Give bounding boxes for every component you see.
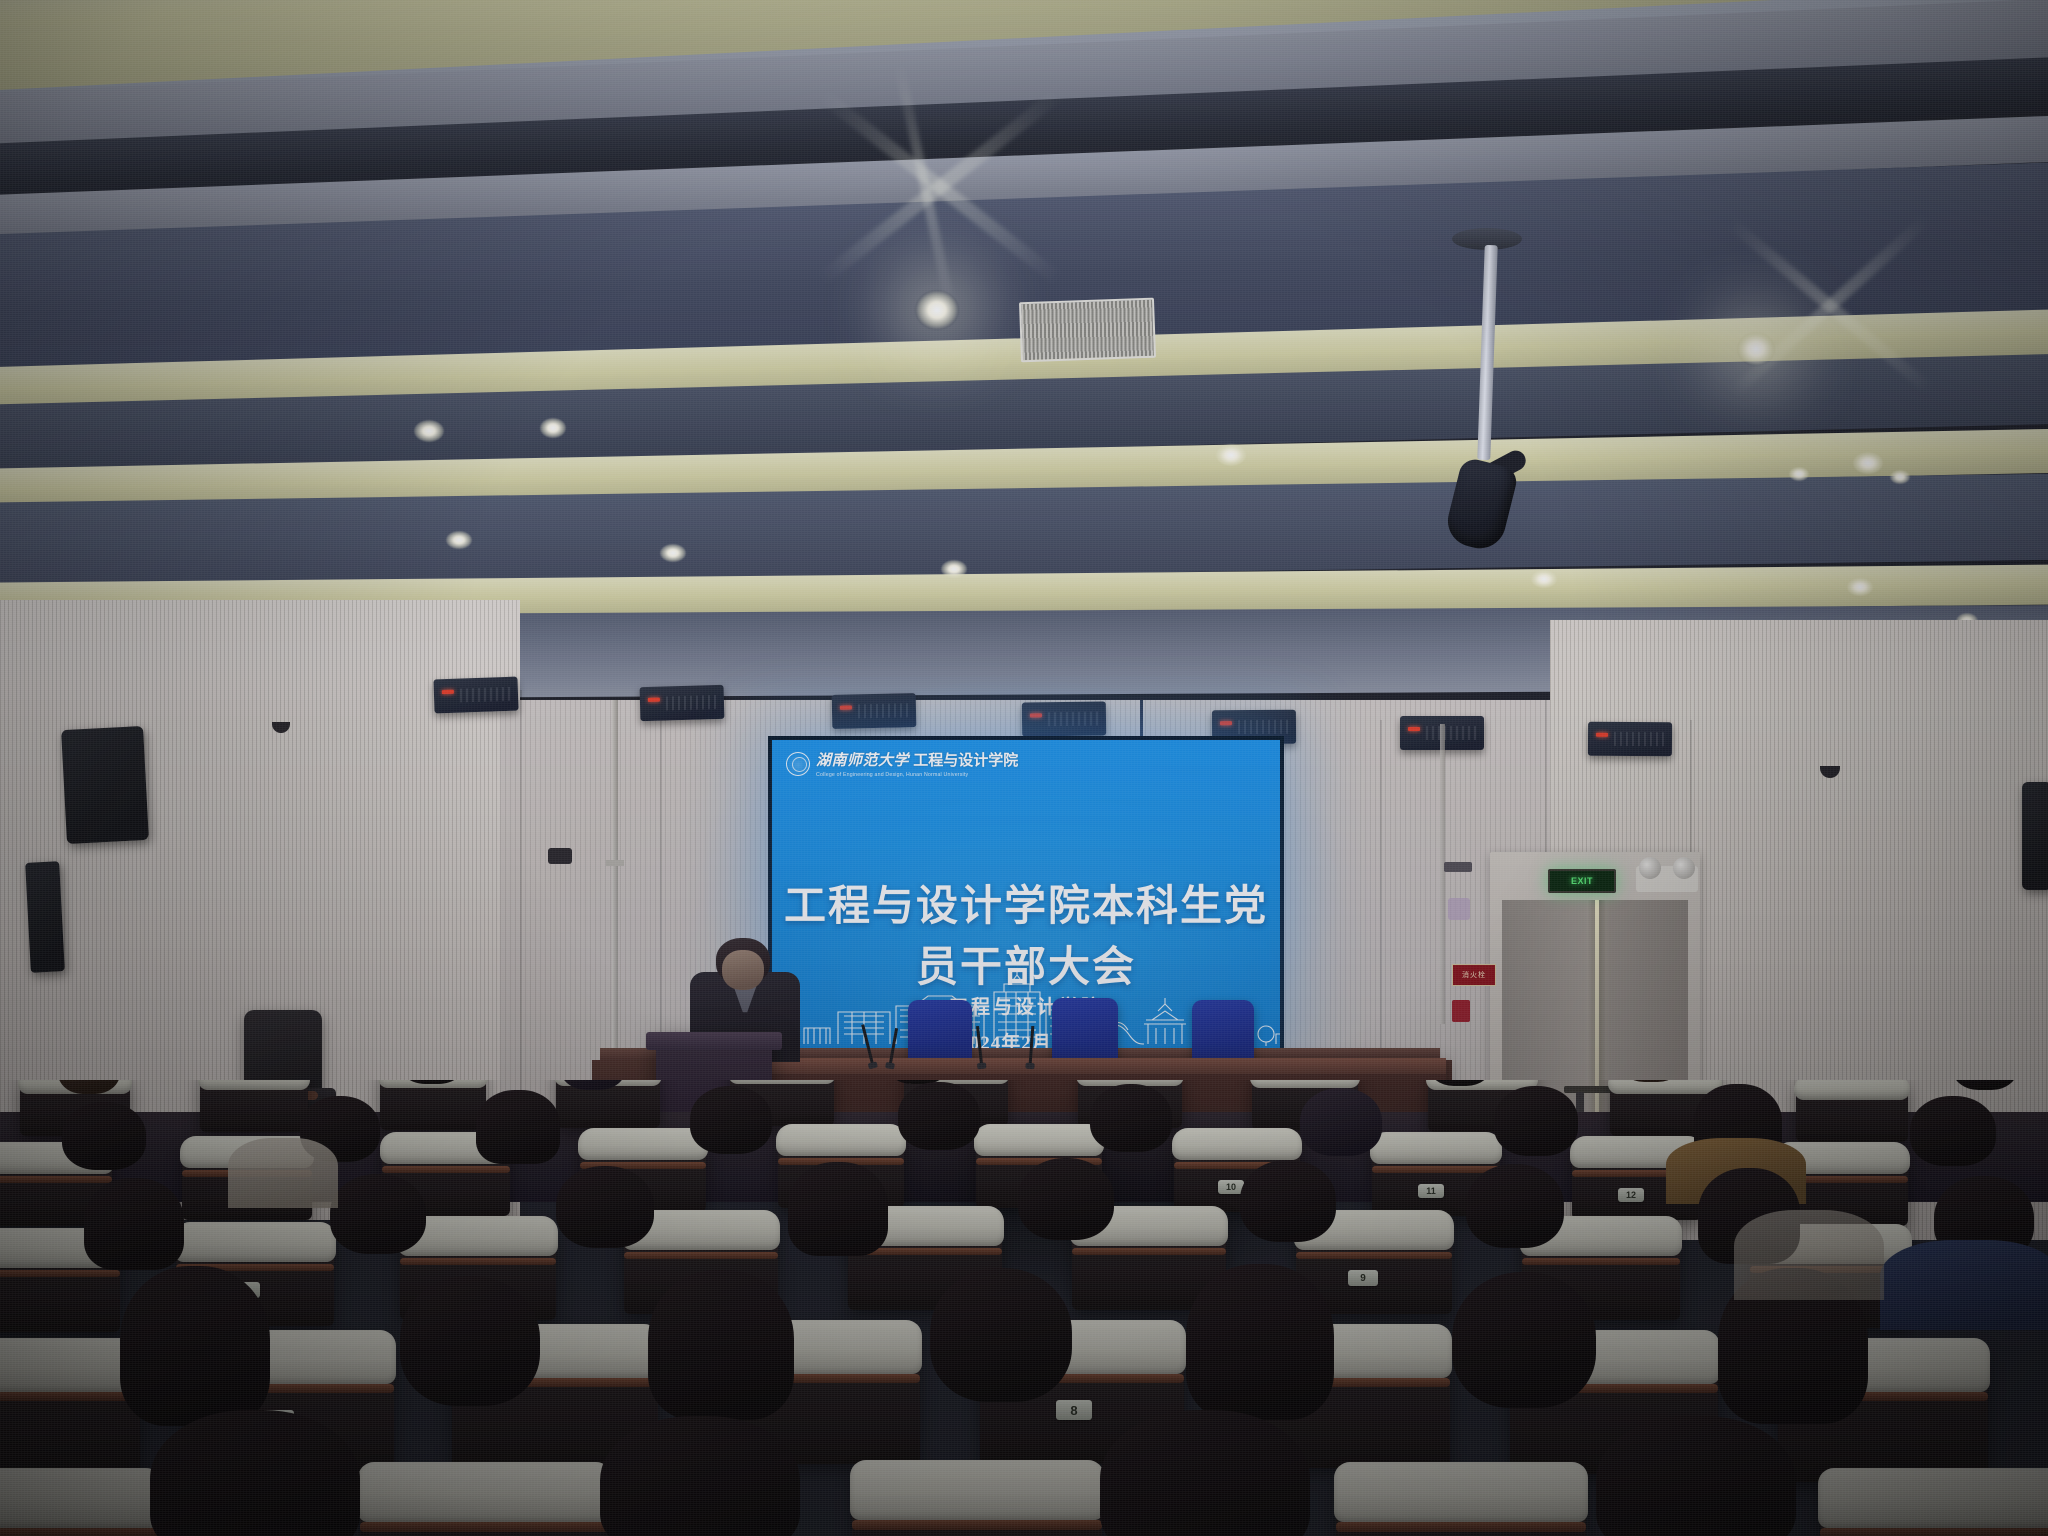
seat-number-plate: 9 (1348, 1270, 1378, 1286)
seat-number-plate: 11 (1418, 1184, 1444, 1198)
seat-headrest (974, 1124, 1104, 1156)
room-camera (548, 848, 572, 864)
ceiling-downlight (1216, 444, 1246, 466)
seat-wood-trim (624, 1252, 778, 1259)
audience-head-foreground (930, 1268, 1072, 1402)
speaker-grill (1426, 726, 1478, 740)
wall-speaker (61, 726, 149, 844)
seat-wood-trim (0, 1392, 140, 1401)
seat-wood-trim (0, 1270, 120, 1277)
speaker-grill (1048, 711, 1100, 726)
ceiling-downlight (414, 420, 444, 442)
ceiling-downlight (1853, 452, 1883, 474)
audience-head-foreground (600, 1416, 800, 1536)
seat-headrest (1794, 1080, 1910, 1100)
seat[interactable]: 8 (360, 1466, 610, 1536)
seat-headrest (358, 1462, 612, 1522)
seat-headrest (0, 1468, 162, 1528)
screen-logo-text: 湖南师范大学 工程与设计学院 (816, 749, 1018, 770)
speaker-led (648, 698, 660, 702)
audience-head-foreground (648, 1270, 794, 1420)
audience-head (1466, 1164, 1564, 1248)
seat-number-plate: 12 (1618, 1188, 1644, 1202)
seat-wood-trim (1296, 1252, 1452, 1259)
seat[interactable] (0, 1472, 160, 1536)
seat-headrest (578, 1128, 708, 1160)
ceiling-downlight (660, 544, 686, 562)
seat-headrest (1172, 1128, 1302, 1160)
ceiling-downlight (1847, 578, 1873, 596)
auditorium-photo: 湖南师范大学 工程与设计学院 College of Engineering an… (0, 0, 2048, 1536)
university-emblem-icon (786, 752, 810, 776)
seat-wood-trim (360, 1522, 610, 1532)
ceiling-downlight (446, 531, 472, 549)
ceiling-downlight (540, 418, 566, 438)
seat[interactable] (1336, 1466, 1586, 1536)
exit-sign-label: EXIT (1571, 876, 1593, 886)
audience-head-foreground (1452, 1272, 1596, 1408)
audience-head (788, 1162, 888, 1256)
audience-head (898, 1082, 980, 1150)
wall-speaker-column (25, 861, 65, 973)
audience-head-foreground (120, 1266, 270, 1426)
speaker-grill (666, 695, 718, 710)
audience-head-foreground (400, 1276, 540, 1406)
audience-head (330, 1174, 426, 1254)
screen-header-logo: 湖南师范大学 工程与设计学院 College of Engineering an… (786, 749, 1018, 778)
ceiling-downlight (1890, 470, 1910, 484)
ceiling-downlight (1789, 467, 1809, 481)
ceiling-downlight (915, 290, 959, 330)
audience-head (1300, 1088, 1382, 1156)
ceiling-air-vent (1019, 298, 1156, 363)
seat[interactable] (380, 1080, 486, 1130)
audience-head (1494, 1086, 1578, 1156)
seat-wood-trim (1072, 1248, 1226, 1255)
ceiling-speaker (1588, 722, 1672, 757)
audience-head (476, 1090, 560, 1164)
fire-hydrant-sign: 消火栓 (1452, 964, 1496, 986)
speaker-grill (460, 687, 512, 703)
speaker-led (1596, 733, 1608, 737)
audience-head (1952, 1080, 2018, 1090)
seat-headrest (728, 1080, 836, 1084)
fire-sign-label: 消火栓 (1462, 970, 1486, 980)
emergency-light (1636, 866, 1698, 892)
seat-headrest (1334, 1462, 1588, 1522)
screen-logo-college: 工程与设计学院 (913, 752, 1018, 769)
audience-head (556, 1166, 654, 1248)
seat-headrest (198, 1080, 310, 1090)
seat[interactable] (0, 1342, 140, 1482)
screen-support-pole (612, 700, 618, 1100)
audience-head (690, 1086, 772, 1154)
audience-head (1018, 1158, 1114, 1240)
ceiling-downlight (1531, 570, 1557, 588)
wall-speaker (2022, 782, 2048, 890)
wall-notice (1444, 862, 1472, 872)
audience-head-foreground (1186, 1264, 1334, 1420)
speaker-led (1220, 721, 1232, 725)
seat-wood-trim (1522, 1258, 1680, 1265)
audience-shoulders (1880, 1240, 2048, 1330)
seat[interactable] (200, 1080, 308, 1132)
ceiling-downlight (941, 560, 967, 578)
speaker-led (840, 705, 852, 709)
speaker-led (1408, 727, 1420, 731)
ceiling-speaker (1022, 701, 1106, 736)
speaker-grill (1238, 720, 1290, 734)
fire-alarm-button[interactable] (1452, 1000, 1470, 1022)
exit-sign: EXIT (1548, 869, 1616, 893)
seat[interactable] (1796, 1080, 1908, 1142)
screen-support-pole (1440, 724, 1445, 1024)
ceiling-speaker (640, 685, 725, 721)
seat[interactable]: 8 (852, 1464, 1102, 1536)
speaker-person-face (722, 950, 764, 990)
ceiling-speaker (832, 693, 917, 729)
seat-number-plate: 8 (1056, 1400, 1092, 1420)
seat-headrest (850, 1460, 1104, 1520)
screen-support-pole (606, 860, 624, 866)
speaker-grill (858, 703, 910, 718)
audience-head (62, 1102, 146, 1170)
ceiling (0, 0, 2048, 700)
seat-headrest (174, 1222, 336, 1262)
ceiling-speaker (433, 677, 518, 714)
wall-switch[interactable] (1448, 898, 1470, 920)
speaker-led (442, 690, 454, 694)
seat-wood-trim (0, 1528, 160, 1536)
audience-head (1910, 1096, 1996, 1166)
seat-headrest (1818, 1468, 2048, 1528)
audience-head (1090, 1084, 1172, 1152)
podium-top-surface (646, 1032, 782, 1050)
seat-headrest (776, 1124, 906, 1156)
seat-wood-trim (1820, 1528, 2048, 1536)
audience-head-foreground (150, 1410, 360, 1536)
screen-logo-english: College of Engineering and Design, Hunan… (816, 772, 1018, 778)
seat[interactable] (1820, 1472, 2048, 1536)
seat-wood-trim (852, 1520, 1102, 1530)
seat-headrest (1250, 1080, 1360, 1088)
speaker-led (1030, 713, 1042, 717)
seat-wood-trim (0, 1176, 112, 1183)
seat-wood-trim (1372, 1166, 1500, 1173)
seat-headrest (1370, 1132, 1502, 1164)
seat-wood-trim (1336, 1522, 1586, 1532)
audience-shoulders (228, 1138, 338, 1208)
audience-shoulders (1734, 1210, 1884, 1300)
ceiling-downlight (1737, 332, 1775, 366)
seat-headrest (1608, 1080, 1722, 1094)
screen-logo-university: 湖南师范大学 (816, 753, 909, 769)
seat-wood-trim (400, 1258, 556, 1265)
audience-head (84, 1178, 184, 1270)
audience-head (1240, 1160, 1336, 1242)
audience-head-foreground (1100, 1410, 1310, 1536)
speaker-grill (1614, 732, 1666, 746)
seat-wood-trim (382, 1166, 510, 1173)
audience-head-foreground (1596, 1416, 1796, 1536)
